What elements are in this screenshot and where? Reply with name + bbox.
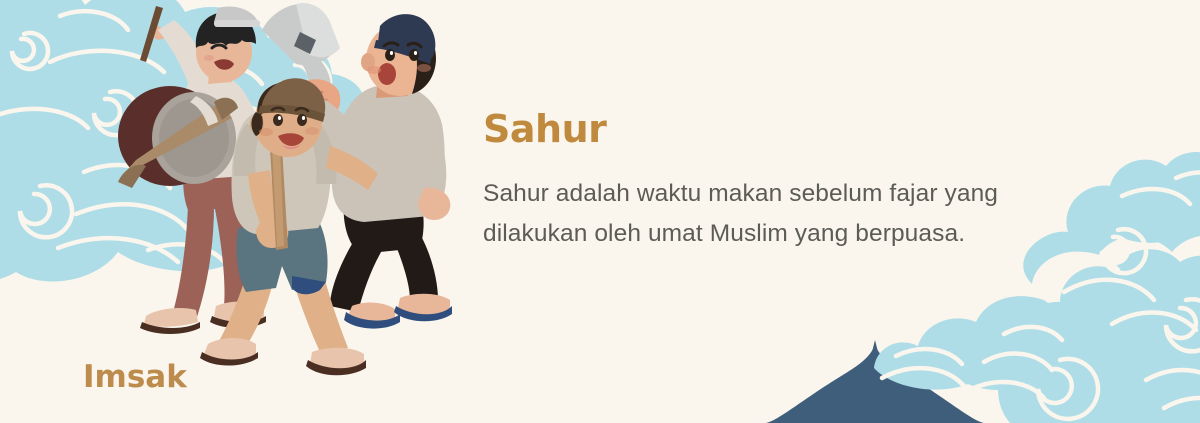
- bedug-drum: [118, 86, 238, 188]
- text-block: Sahur Sahur adalah waktu makan sebelum f…: [483, 110, 1023, 254]
- imsak-label: Imsak: [83, 362, 187, 393]
- description-text: Sahur adalah waktu makan sebelum fajar y…: [483, 174, 1023, 254]
- sahur-banner: Sahur Sahur adalah waktu makan sebelum f…: [0, 0, 1200, 423]
- page-title: Sahur: [483, 110, 1023, 148]
